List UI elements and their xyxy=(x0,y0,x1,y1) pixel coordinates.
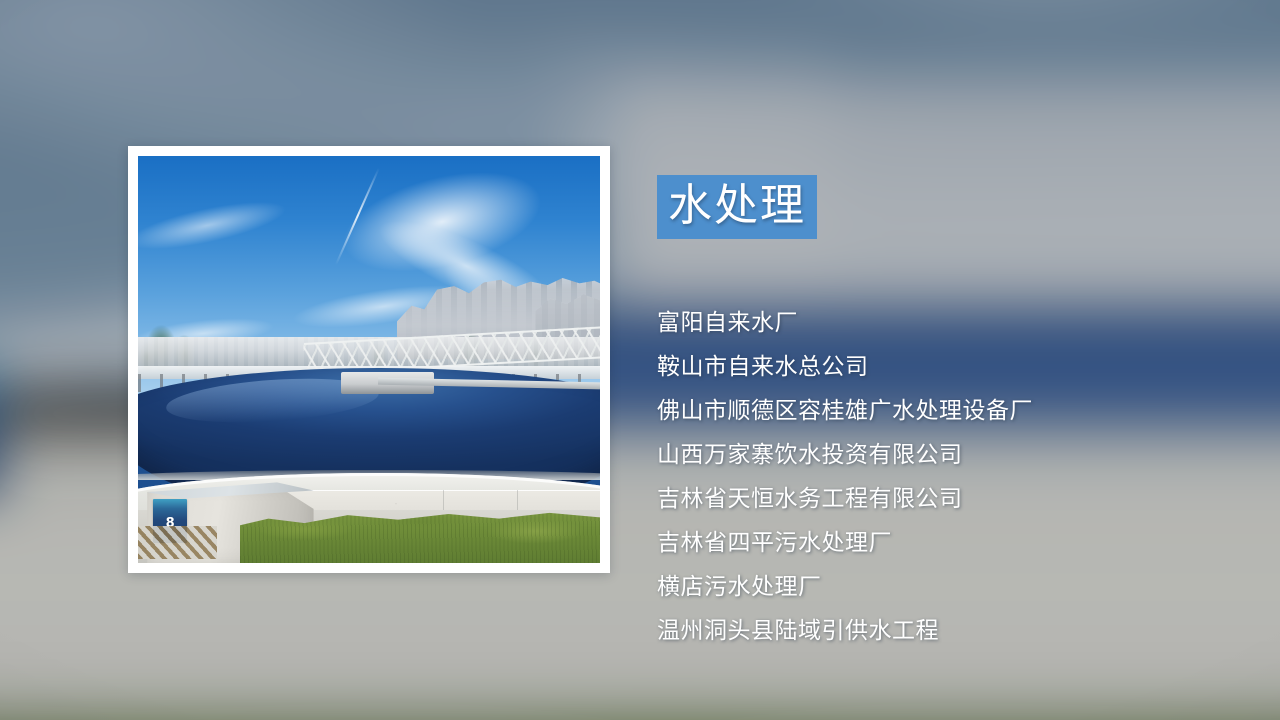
list-item: 鞍山市自来水总公司 xyxy=(657,345,1237,389)
list-item: 吉林省四平污水处理厂 xyxy=(657,521,1237,565)
customer-list: 富阳自来水厂 鞍山市自来水总公司 佛山市顺德区容桂雄广水处理设备厂 山西万家寨饮… xyxy=(657,301,1237,653)
photo-drain-grate xyxy=(138,526,217,559)
water-treatment-plant-photo: 8 xyxy=(138,156,600,563)
photo-card: 8 xyxy=(128,146,610,573)
list-item: 温州洞头县陆域引供水工程 xyxy=(657,609,1237,653)
list-item: 横店污水处理厂 xyxy=(657,565,1237,609)
list-item: 富阳自来水厂 xyxy=(657,301,1237,345)
slide-canvas: 8 水处理 富阳自来水厂 鞍山市自来水总公司 佛山市顺德区容桂雄广水处理设备厂 … xyxy=(0,0,1280,720)
page-title: 水处理 xyxy=(657,175,817,239)
list-item: 吉林省天恒水务工程有限公司 xyxy=(657,477,1237,521)
page-title-wrap: 水处理 xyxy=(657,146,817,269)
list-item: 佛山市顺德区容桂雄广水处理设备厂 xyxy=(657,389,1237,433)
content-panel: 水处理 富阳自来水厂 鞍山市自来水总公司 佛山市顺德区容桂雄广水处理设备厂 山西… xyxy=(657,146,1237,653)
background-grass xyxy=(0,712,1280,720)
list-item: 山西万家寨饮水投资有限公司 xyxy=(657,433,1237,477)
